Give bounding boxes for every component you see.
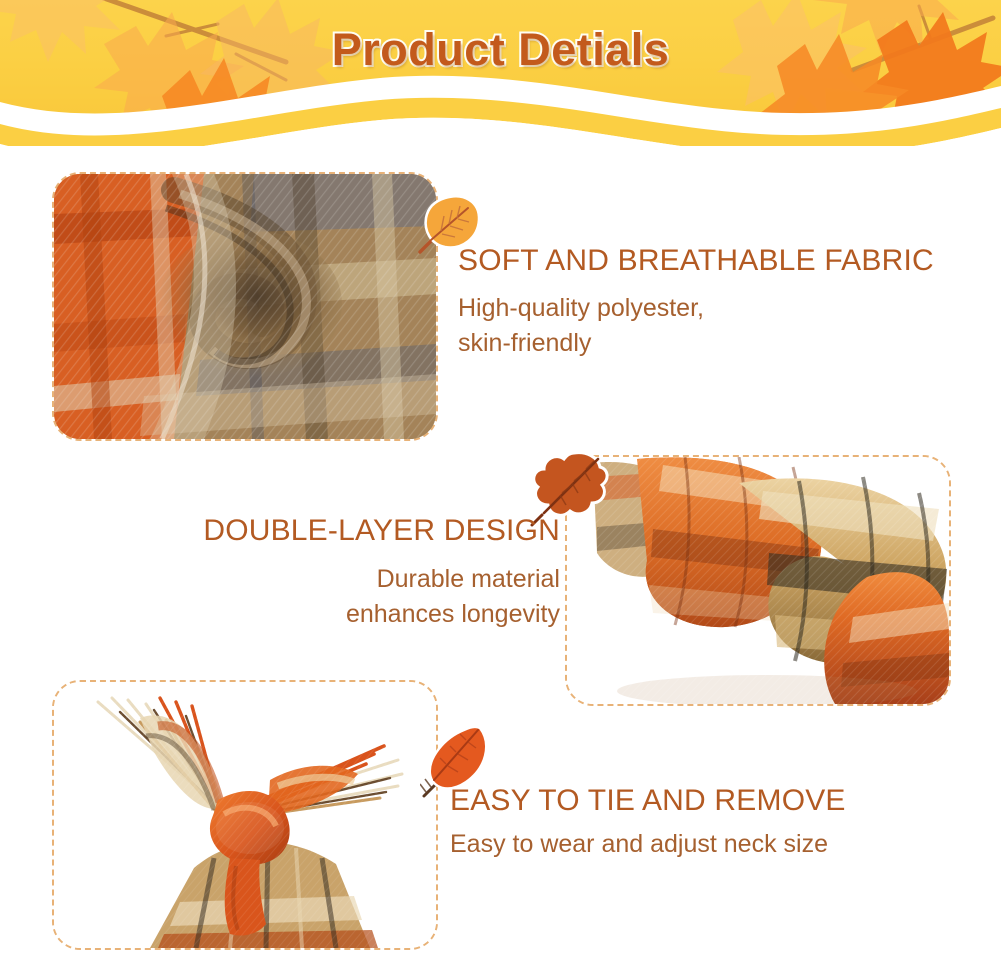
feature-title: EASY TO TIE AND REMOVE	[450, 780, 995, 823]
feature-body: Durable material enhances longevity	[60, 562, 560, 633]
feature-text-double-layer: DOUBLE-LAYER DESIGN Durable material enh…	[60, 510, 560, 633]
feature-image-folded-layers	[565, 455, 951, 706]
wave-divider	[0, 72, 1001, 146]
feature-text-soft-breathable: SOFT AND BREATHABLE FABRIC High-quality …	[458, 240, 978, 362]
feature-title: SOFT AND BREATHABLE FABRIC	[458, 240, 978, 283]
folded-plaid-layers-illustration	[567, 457, 949, 704]
feature-text-easy-tie: EASY TO TIE AND REMOVE Easy to wear and …	[450, 780, 995, 862]
feature-title: DOUBLE-LAYER DESIGN	[60, 510, 560, 553]
knotted-scarf-illustration	[54, 682, 436, 948]
plaid-fabric-swirl-illustration	[54, 174, 436, 439]
feature-image-knotted-scarf	[52, 680, 438, 950]
header-banner: Product Detials	[0, 0, 1001, 146]
page-title: Product Detials	[0, 24, 1001, 76]
feature-body: Easy to wear and adjust neck size	[450, 827, 995, 863]
feature-body: High-quality polyester, skin-friendly	[458, 291, 978, 362]
feature-image-fabric-swirl	[52, 172, 438, 441]
product-details-infographic: Product Detials	[0, 0, 1001, 954]
